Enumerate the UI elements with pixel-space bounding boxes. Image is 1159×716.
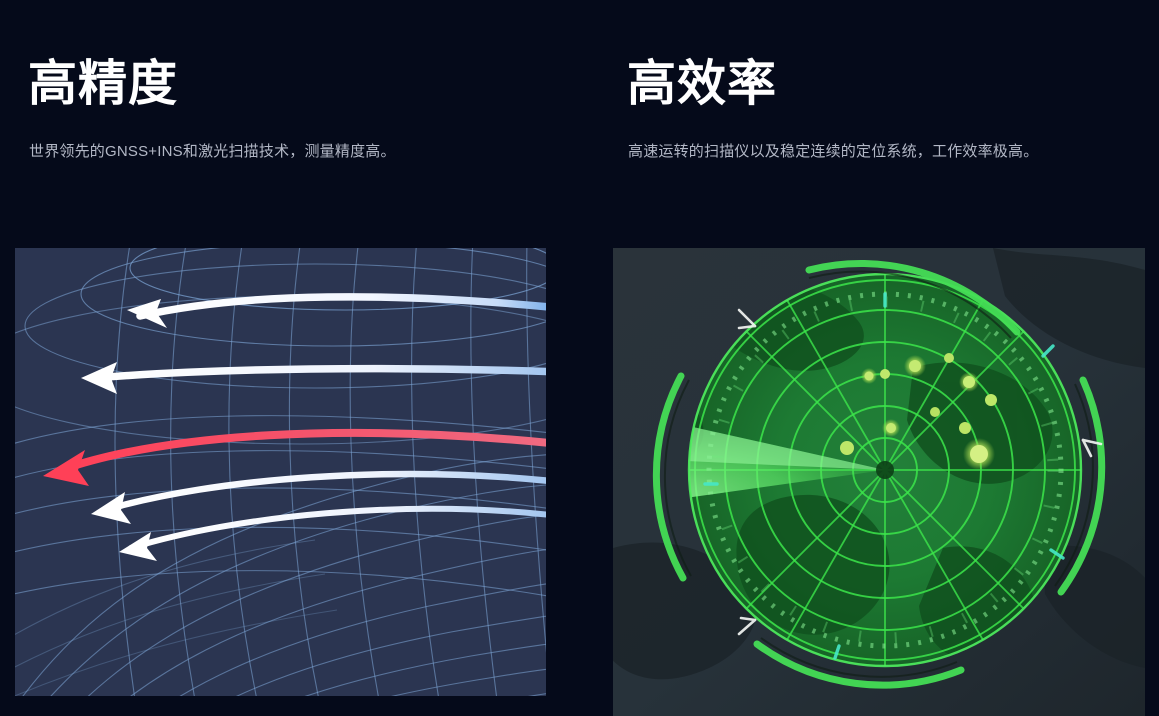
feature-description-efficiency: 高速运转的扫描仪以及稳定连续的定位系统，工作效率极高。 [628, 141, 1038, 164]
feature-image-radar-scope [613, 248, 1145, 716]
feature-description-precision: 世界领先的GNSS+INS和激光扫描技术，测量精度高。 [29, 141, 396, 164]
radar-center-hub [876, 461, 894, 479]
feature-image-globe-wireframe [15, 248, 546, 696]
feature-title-efficiency: 高效率 [627, 56, 777, 114]
feature-section: 高精度 世界领先的GNSS+INS和激光扫描技术，测量精度高。 高效率 高速运转… [0, 0, 1159, 716]
feature-title-precision: 高精度 [28, 56, 178, 114]
